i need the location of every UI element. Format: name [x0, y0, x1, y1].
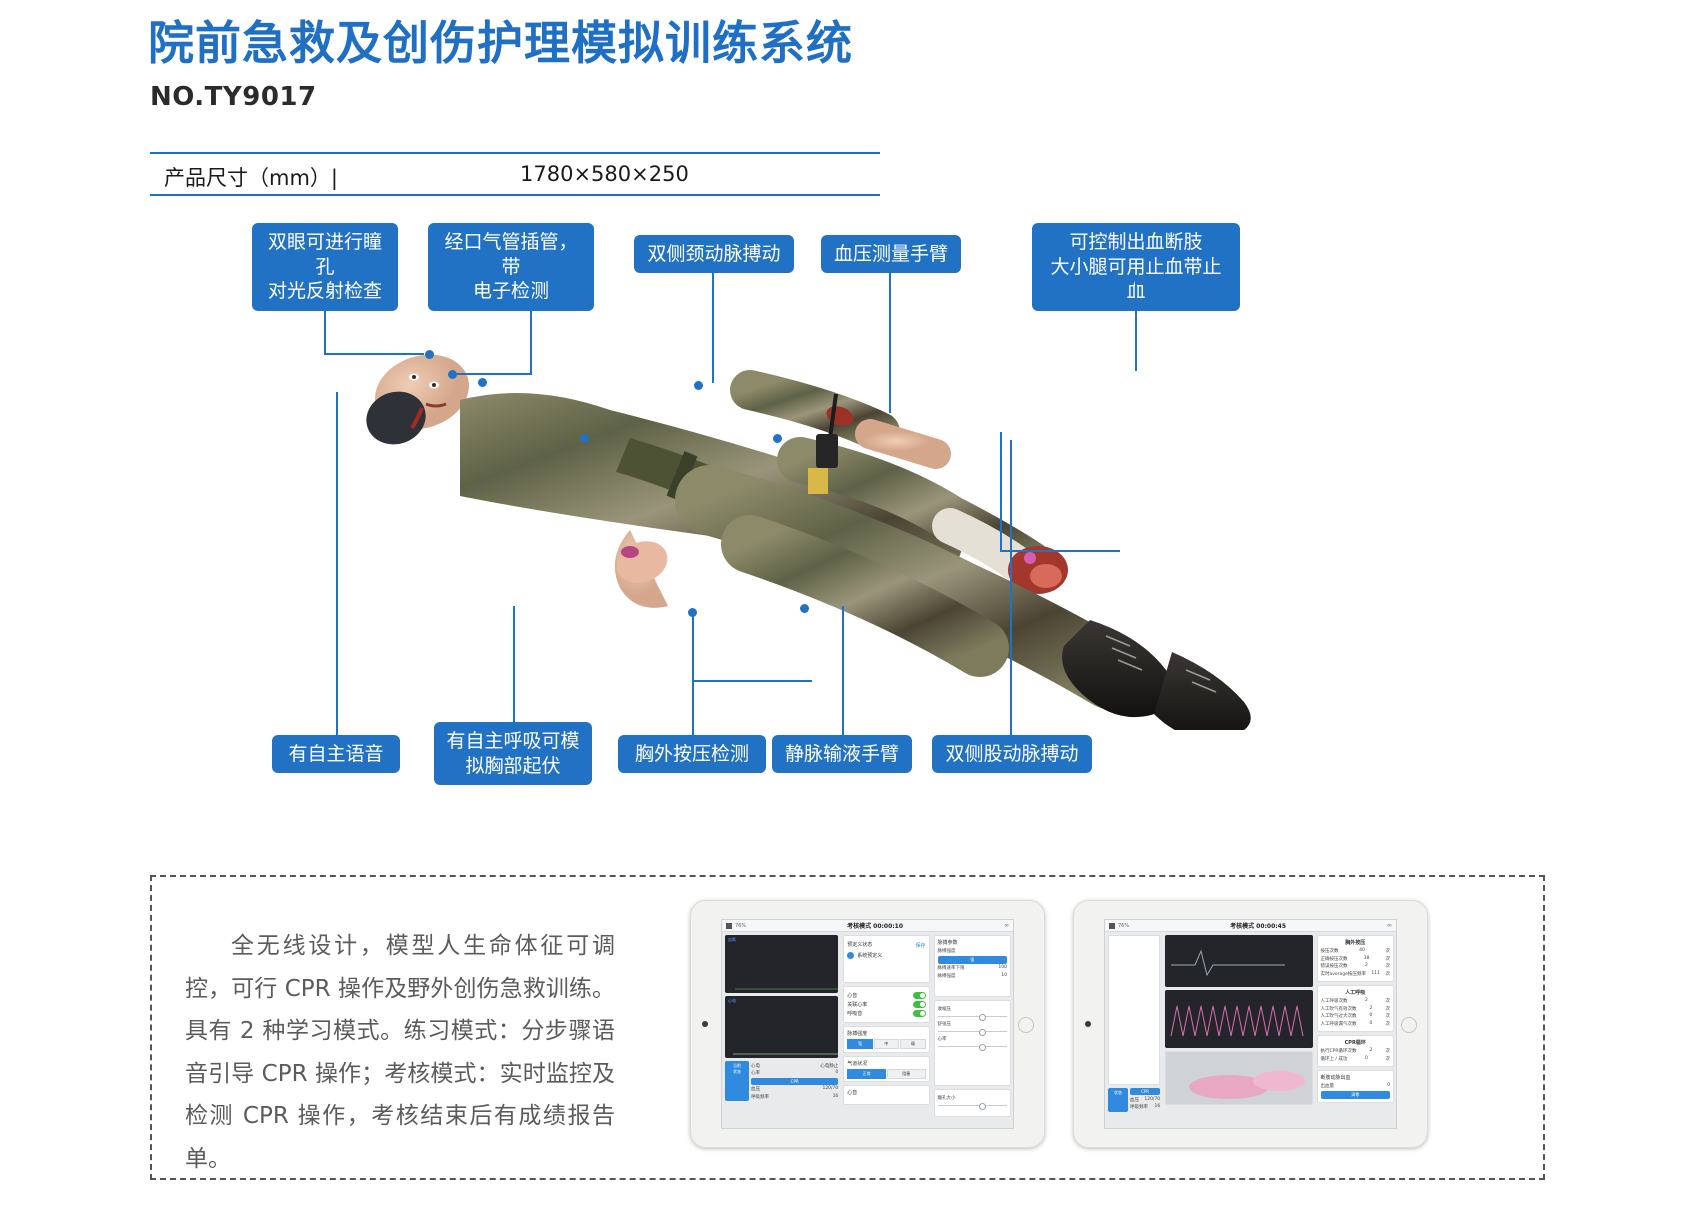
ventilation-label-3: 人工呼吸漏气次数 [1321, 1021, 1357, 1027]
compression-title: 胸外按压 [1321, 939, 1390, 946]
compression-row-1: 正确按压次数 38 次 [1321, 956, 1390, 962]
bleeding-card: 断肢动脉出血 出血量 0 清零 [1317, 1070, 1394, 1103]
cycle-title: CPR循环 [1321, 1039, 1390, 1046]
compression-label-3: 实时average按压频率 [1321, 971, 1366, 977]
right-column: 脉搏参数 脉搏强度 强 脉搏速率下限 100 脉搏强度 10 [932, 932, 1013, 1128]
toggle-row-breath[interactable]: 呼吸音 [847, 1010, 925, 1017]
vital-row-diastolic: 舒张压 [938, 1021, 1007, 1027]
spo2-trace [725, 935, 838, 993]
pulse-seg-medium[interactable]: 中 [874, 1039, 899, 1049]
pulse-strength-pill[interactable]: 强 [938, 956, 1007, 964]
pupil-params-card[interactable]: 瞳孔大小 [934, 1089, 1011, 1117]
compression-row-2: 错误按压次数 2 次 [1321, 963, 1390, 969]
diastolic-label: 舒张压 [938, 1021, 952, 1027]
spo2-waveform-label: 血氧 [728, 937, 736, 943]
cpr-button-2[interactable]: CPR [1130, 1088, 1160, 1095]
leader-bleeding-limb-v2 [1000, 432, 1002, 552]
leader-pupil-h [324, 353, 424, 355]
status-bar-2: 76% 考核模式 00:00:45 ∞ [1105, 920, 1396, 932]
cpr-button[interactable]: CPR [751, 1078, 838, 1085]
anchor-dot-pupil [425, 350, 434, 359]
leader-breathing [513, 606, 515, 722]
param-row-2: 脉搏强度 10 [938, 973, 1007, 979]
spec-label: 产品尺寸（mm）| [164, 162, 338, 192]
right-column-2: 胸外按压 按压次数 40 次 正确按压次数 38 次 错误按压次数 [1315, 932, 1396, 1128]
compression-label-2: 错误按压次数 [1321, 963, 1348, 969]
tablet-camera-icon [702, 1021, 708, 1027]
ventilation-value-0: 2 [1365, 998, 1368, 1004]
compression-value-1: 38 [1364, 956, 1370, 962]
breath-sound-label: 呼吸音 [847, 1010, 862, 1017]
leader-femoral [1010, 440, 1012, 735]
state-tile[interactable]: 当前 状态 [725, 1061, 749, 1101]
compression-label-1: 正确按压次数 [1321, 956, 1348, 962]
battery-icon [726, 923, 732, 929]
battery-percent: 76% [735, 923, 746, 929]
model-number: NO.TY9017 [150, 82, 317, 112]
param-label-2: 脉搏强度 [938, 973, 956, 979]
bleed-title: 断肢动脉出血 [1321, 1074, 1390, 1081]
ecg-waveform: 心电 [725, 996, 838, 1058]
cycle-value-1: 0 [1365, 1056, 1368, 1062]
check-icon [847, 952, 854, 959]
screen-columns-2: 状态 CPR 血压 120/70 呼吸频率 16 [1105, 932, 1396, 1128]
systolic-label: 收缩压 [938, 1006, 952, 1012]
vital-row-hr: 心率 [938, 1036, 1007, 1042]
callout-carotid[interactable]: 双侧颈动脉搏动 [634, 235, 794, 273]
bp-value: 120/70 [822, 1086, 838, 1092]
pulse-seg-strong[interactable]: 强 [847, 1039, 872, 1049]
airway-seg-b[interactable]: 阻塞 [887, 1069, 926, 1079]
tablet-right-screen[interactable]: 76% 考核模式 00:00:45 ∞ 状态 CPR 血压 120/70 [1104, 919, 1397, 1129]
callout-intubation[interactable]: 经口气管插管，带 电子检测 [428, 223, 594, 311]
left-bottom-bar: 当前 状态 心电 心电静止 心率 0 CPR [725, 1061, 838, 1101]
heart-sound-toggle[interactable] [913, 992, 926, 999]
pupil-label: 瞳孔大小 [938, 1095, 956, 1101]
ventilation-unit-2: 次 [1385, 1013, 1390, 1019]
mode-title-2: 考核模式 00:00:45 [1129, 921, 1387, 930]
ventilation-row-2: 人工吹气过大次数 0 次 [1321, 1013, 1390, 1019]
bleed-row-0: 出血量 0 [1321, 1083, 1390, 1089]
resp-value: 16 [833, 1094, 839, 1100]
pupil-row: 瞳孔大小 [938, 1095, 1007, 1101]
infinity-icon-2: ∞ [1387, 922, 1392, 929]
bp-row-2: 血压 120/70 [1130, 1097, 1160, 1103]
compression-row-0: 按压次数 40 次 [1321, 948, 1390, 954]
compression-value-0: 40 [1359, 948, 1365, 954]
tablet-practice-mode[interactable]: 76% 考核模式 00:00:10 ∞ 血氧 心电 [690, 900, 1045, 1148]
left-column: 血氧 心电 当前 状态 [722, 932, 841, 1128]
page-title: 院前急救及创伤护理模拟训练系统 [148, 18, 853, 69]
ventilation-row-1: 人工吹气有效次数 2 次 [1321, 1006, 1390, 1012]
hr-row: 心率 0 [751, 1070, 838, 1076]
airway-seg-a[interactable]: 正常 [847, 1069, 886, 1079]
leader-iv [842, 606, 844, 735]
param-value-1: 100 [998, 965, 1007, 971]
hr-slider[interactable] [938, 1046, 1007, 1047]
status-list-card [1108, 935, 1160, 1085]
leader-intubation [530, 275, 532, 375]
pulse-strength-segments[interactable]: 强 中 弱 [847, 1039, 925, 1049]
bp-label-2: 血压 [1130, 1097, 1139, 1103]
cpr-cycle-card: CPR循环 执行CPR循环次数 2 次 循环上 / 成功 0 次 [1317, 1035, 1394, 1067]
sound-toggles-card[interactable]: 心音 关联心率 呼吸音 [843, 986, 929, 1023]
exam-waveform-top [1165, 935, 1312, 987]
leader-bleeding-limb [1135, 275, 1137, 371]
compression-unit-2: 次 [1385, 963, 1390, 969]
compression-unit-1: 次 [1385, 956, 1390, 962]
left-bottom-bar-2: 状态 CPR 血压 120/70 呼吸频率 16 [1108, 1088, 1160, 1112]
screen-columns: 血氧 心电 当前 状态 [722, 932, 1013, 1128]
compression-value-2: 2 [1365, 963, 1368, 969]
compression-unit-3: 次 [1385, 971, 1390, 977]
ecg-row: 心电 心电静止 [751, 1063, 838, 1069]
link-hr-label: 关联心率 [847, 1001, 867, 1008]
infinity-icon: ∞ [1004, 922, 1009, 929]
cycle-label-0: 执行CPR循环次数 [1321, 1048, 1357, 1054]
leader-bp-arm [889, 263, 891, 413]
bleed-label-0: 出血量 [1321, 1083, 1335, 1089]
save-link[interactable]: 保存 [915, 942, 925, 949]
vitals-params-card[interactable]: 收缩压 舒张压 心率 [934, 1000, 1011, 1086]
toggle-row-hr[interactable]: 关联心率 [847, 1001, 925, 1008]
anchor-dot-iv [800, 604, 809, 613]
ventilation-value-3: 0 [1370, 1021, 1373, 1027]
resp-label: 呼吸频率 [751, 1094, 769, 1100]
callout-breathing[interactable]: 有自主呼吸可模 拟胸部起伏 [434, 722, 592, 785]
hr-value: 0 [835, 1070, 838, 1076]
battery-icon-2 [1109, 923, 1115, 929]
anchor-dot-limb [773, 434, 782, 443]
link-hr-toggle[interactable] [913, 1001, 926, 1008]
cycle-row-1: 循环上 / 成功 0 次 [1321, 1056, 1390, 1062]
pupil-slider[interactable] [938, 1105, 1007, 1106]
ventilation-value-1: 2 [1370, 1006, 1373, 1012]
compression-unit-0: 次 [1385, 948, 1390, 954]
description-paragraph: 全无线设计，模型人生命体征可调控，可行 CPR 操作及野外创伤急救训练。具有 2… [185, 925, 615, 1180]
anchor-dot-carotid [478, 378, 487, 387]
breath-sound-toggle[interactable] [913, 1010, 926, 1017]
callout-bp-arm[interactable]: 血压测量手臂 [821, 235, 961, 273]
spec-table: 产品尺寸（mm）| 1780×580×250 [150, 152, 880, 196]
diastolic-slider[interactable] [938, 1031, 1007, 1032]
tablet-exam-mode[interactable]: 76% 考核模式 00:00:45 ∞ 状态 CPR 血压 120/70 [1073, 900, 1428, 1148]
product-brochure-page: 院前急救及创伤护理模拟训练系统 NO.TY9017 产品尺寸（mm）| 1780… [0, 0, 1700, 1209]
left-column-2: 状态 CPR 血压 120/70 呼吸频率 16 [1105, 932, 1163, 1128]
callout-femoral[interactable]: 双侧股动脉搏动 [932, 735, 1092, 773]
anchor-dot-breathing [580, 434, 589, 443]
resp-row: 呼吸频率 16 [751, 1094, 838, 1100]
airway-card[interactable]: 气道状况 正常 阻塞 [843, 1056, 929, 1082]
ventilation-label-1: 人工吹气有效次数 [1321, 1006, 1357, 1012]
cycle-unit-1: 次 [1385, 1056, 1390, 1062]
rhythm-label: 心电静止 [820, 1063, 838, 1069]
bleed-value-0: 0 [1387, 1083, 1390, 1089]
predefined-option-row[interactable]: 系统预定义 [847, 952, 925, 959]
airway-segments[interactable]: 正常 阻塞 [847, 1069, 925, 1079]
ventilation-unit-3: 次 [1385, 1021, 1390, 1027]
param-row-1: 脉搏速率下限 100 [938, 965, 1007, 971]
heart-sound-label: 心音 [847, 992, 857, 999]
pulse-strength-card[interactable]: 脉搏强度 强 中 弱 [843, 1026, 929, 1053]
cycle-value-0: 2 [1370, 1048, 1373, 1054]
bp-row: 血压 120/70 [751, 1086, 838, 1092]
compression-row-3: 实时average按压频率 111 次 [1321, 971, 1390, 977]
anchor-dot-intubation [448, 370, 457, 379]
tablet-left-screen[interactable]: 76% 考核模式 00:00:10 ∞ 血氧 心电 [721, 919, 1014, 1129]
callout-voice[interactable]: 有自主语音 [272, 735, 400, 773]
cycle-unit-0: 次 [1385, 1048, 1390, 1054]
pulse-params-card[interactable]: 脉搏参数 脉搏强度 强 脉搏速率下限 100 脉搏强度 10 [934, 935, 1011, 997]
param-row-0: 脉搏强度 [938, 948, 1007, 954]
ecg-waveform-label: 心电 [728, 998, 736, 1004]
manikin-preview-card [1165, 1051, 1312, 1105]
pulse-seg-weak[interactable]: 弱 [900, 1039, 925, 1049]
compression-card: 胸外按压 按压次数 40 次 正确按压次数 38 次 错误按压次数 [1317, 935, 1394, 982]
ventilation-label-0: 人工呼吸次数 [1321, 998, 1348, 1004]
vital-row-systolic: 收缩压 [938, 1006, 1007, 1012]
heart-sound-card[interactable]: 心音 [843, 1085, 929, 1105]
systolic-slider[interactable] [938, 1016, 1007, 1017]
heart-sound-title: 心音 [847, 1089, 925, 1096]
leader-intubation-h [455, 373, 532, 375]
leader-compression [692, 612, 694, 735]
leader-carotid [712, 263, 714, 383]
resp-value-2: 16 [1154, 1104, 1160, 1110]
ventilation-label-2: 人工吹气过大次数 [1321, 1013, 1357, 1019]
callout-compression[interactable]: 胸外按压检测 [618, 735, 766, 773]
pulse-strength-title: 脉搏强度 [847, 1030, 925, 1037]
manikin-preview-image [1169, 1055, 1308, 1101]
reset-button[interactable]: 清零 [1321, 1091, 1390, 1099]
ventilation-row-3: 人工呼吸漏气次数 0 次 [1321, 1021, 1390, 1027]
predefined-header: 预定义状态 保存 [847, 941, 925, 950]
toggle-row-heart[interactable]: 心音 [847, 992, 925, 999]
airway-title: 气道状况 [847, 1060, 925, 1067]
bp-value-2: 120/70 [1144, 1097, 1160, 1103]
leader-pupil [324, 275, 326, 355]
param-label-1: 脉搏速率下限 [938, 965, 965, 971]
compression-value-3: 111 [1371, 971, 1380, 977]
hr-label: 心率 [751, 1070, 760, 1076]
pulse-params-title: 脉搏参数 [938, 939, 1007, 946]
tablet-home-button[interactable] [1018, 1017, 1034, 1033]
ventilation-row-0: 人工呼吸次数 2 次 [1321, 998, 1390, 1004]
predefined-option: 系统预定义 [857, 952, 882, 959]
tablet-camera-icon-2 [1085, 1021, 1091, 1027]
status-bar: 76% 考核模式 00:00:10 ∞ [722, 920, 1013, 932]
manikin-photo [330, 330, 1330, 730]
cpr-compression-trace [1165, 990, 1312, 1048]
resp-row-2: 呼吸频率 16 [1130, 1104, 1160, 1110]
leader-voice [336, 392, 338, 735]
exam-trace-top [1165, 935, 1312, 987]
exam-waveform-cpr [1165, 990, 1312, 1048]
ventilation-value-2: 0 [1370, 1013, 1373, 1019]
ventilation-title: 人工呼吸 [1321, 989, 1390, 996]
hr-param-label: 心率 [938, 1036, 947, 1042]
mode-title: 考核模式 00:00:10 [746, 921, 1004, 930]
anchor-dot-bp [694, 381, 703, 390]
tablet-home-button-2[interactable] [1401, 1017, 1417, 1033]
predefined-state-card[interactable]: 预定义状态 保存 系统预定义 [843, 935, 929, 983]
cycle-label-1: 循环上 / 成功 [1321, 1056, 1348, 1062]
param-label-0: 脉搏强度 [938, 948, 956, 954]
cycle-row-0: 执行CPR循环次数 2 次 [1321, 1048, 1390, 1054]
spec-value: 1780×580×250 [520, 162, 689, 186]
ventilation-card: 人工呼吸 人工呼吸次数 2 次 人工吹气有效次数 2 次 人工吹气过大次数 [1317, 985, 1394, 1032]
callout-iv-arm[interactable]: 静脉输液手臂 [772, 735, 912, 773]
param-value-2: 10 [1001, 973, 1007, 979]
compression-label-0: 按压次数 [1321, 948, 1339, 954]
bp-label: 血压 [751, 1086, 760, 1092]
spo2-waveform: 血氧 [725, 935, 838, 993]
middle-column-2 [1163, 932, 1314, 1128]
battery-percent-2: 76% [1118, 923, 1129, 929]
ecg-trace [725, 996, 838, 1058]
ecg-label: 心电 [751, 1063, 760, 1069]
resp-label-2: 呼吸频率 [1130, 1104, 1148, 1110]
anchor-dot-compression [688, 608, 697, 617]
leader-bleeding-limb-h [1000, 550, 1120, 552]
leader-compression-h [692, 680, 812, 682]
predefined-title: 预定义状态 [847, 941, 872, 948]
middle-column: 预定义状态 保存 系统预定义 心音 [841, 932, 931, 1128]
state-tile-2[interactable]: 状态 [1108, 1088, 1128, 1112]
ventilation-unit-1: 次 [1385, 1006, 1390, 1012]
ventilation-unit-0: 次 [1385, 998, 1390, 1004]
